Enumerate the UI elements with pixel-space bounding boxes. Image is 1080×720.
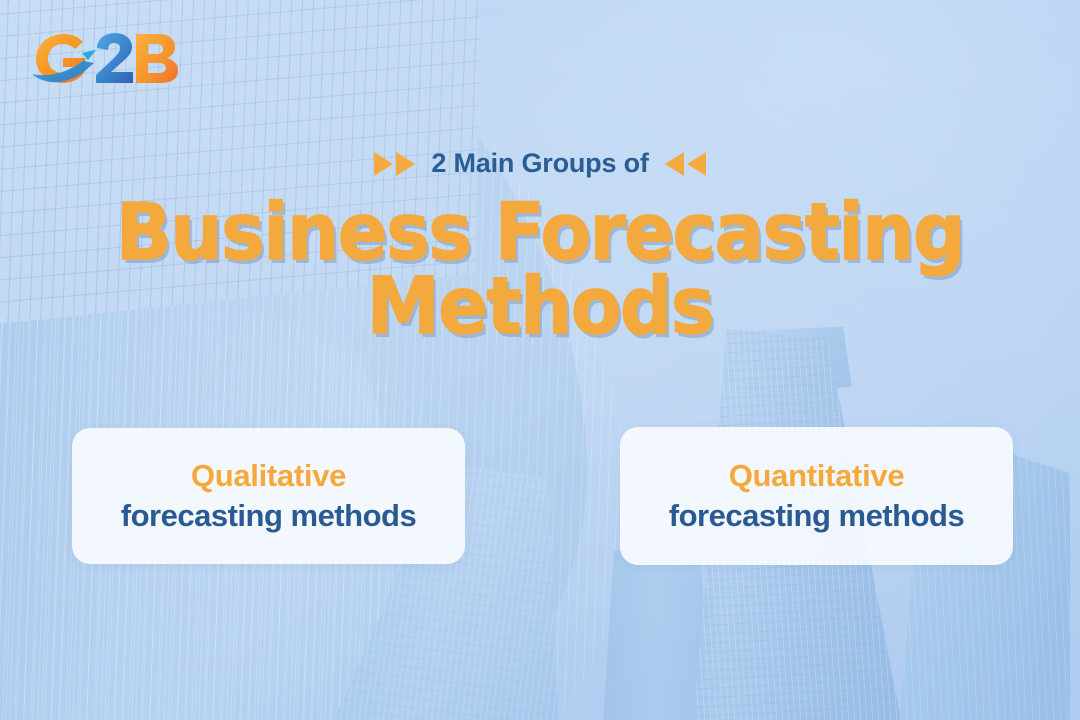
card-qualitative[interactable]: Qualitative forecasting methods bbox=[72, 428, 465, 564]
logo-digit-2 bbox=[96, 33, 133, 83]
page-title: Business Forecasting Methods bbox=[32, 196, 1047, 344]
double-triangle-left-icon bbox=[665, 152, 706, 176]
slide-canvas: 2 Main Groups of Business Forecasting Me… bbox=[0, 0, 1080, 720]
card-qualitative-title: Qualitative bbox=[191, 458, 346, 494]
page-title-line-1: Business Forecasting bbox=[32, 196, 1047, 270]
card-qualitative-subtitle: forecasting methods bbox=[121, 498, 416, 534]
eyebrow-row: 2 Main Groups of bbox=[0, 148, 1080, 179]
eyebrow-text: 2 Main Groups of bbox=[431, 148, 648, 179]
card-quantitative-title: Quantitative bbox=[729, 458, 905, 494]
card-quantitative[interactable]: Quantitative forecasting methods bbox=[620, 427, 1013, 565]
triangle-right-2 bbox=[396, 152, 415, 176]
g2b-logo[interactable] bbox=[24, 22, 184, 92]
card-quantitative-subtitle: forecasting methods bbox=[669, 498, 964, 534]
triangle-left-2 bbox=[687, 152, 706, 176]
logo-letter-b bbox=[136, 34, 178, 83]
page-title-line-2: Methods bbox=[32, 270, 1047, 344]
vignette-overlay bbox=[0, 0, 1080, 720]
g2b-logo-icon bbox=[24, 22, 184, 92]
background-photo bbox=[0, 0, 1080, 720]
triangle-left-1 bbox=[665, 152, 684, 176]
double-triangle-right-icon bbox=[374, 152, 415, 176]
triangle-right-1 bbox=[374, 152, 393, 176]
